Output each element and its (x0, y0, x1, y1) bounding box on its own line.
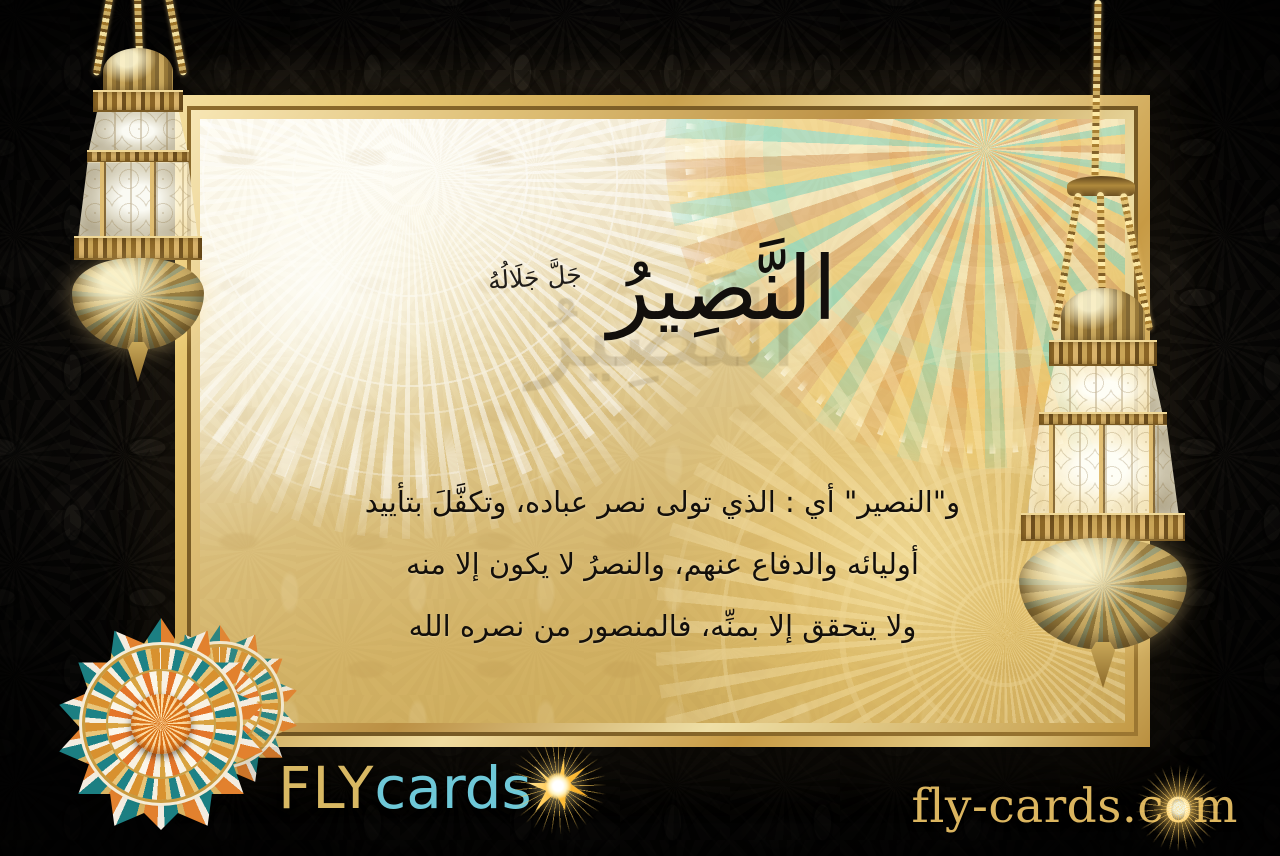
card-frame-inner-rim: النَّصِيرُ النَّصِيرُ جَلَّ جَلَالُهُ و"… (191, 110, 1134, 732)
url-o-char: o (1164, 779, 1193, 834)
mandala-medallion-front-icon (55, 618, 267, 830)
flycards-logo[interactable]: FLY cards (278, 738, 606, 838)
logo-fly-text: FLY (278, 754, 374, 822)
card-face: النَّصِيرُ النَّصِيرُ جَلَّ جَلَالُهُ و"… (200, 119, 1125, 723)
url-text-end: m (1193, 779, 1238, 834)
website-url[interactable]: fly-cards.c o m (911, 779, 1238, 834)
card-frame-inner-shadow: النَّصِيرُ النَّصِيرُ جَلَّ جَلَالُهُ و"… (187, 106, 1138, 736)
logo-cards-text: cards (374, 754, 531, 822)
url-letter-o: o (1164, 779, 1193, 834)
url-text-start: fly-cards.c (911, 779, 1164, 834)
greeting-card-stage: النَّصِيرُ النَّصِيرُ جَلَّ جَلَالُهُ و"… (0, 0, 1280, 856)
body-line: ولا يتحقق إلا بمنِّه، فالمنصور من نصره ا… (350, 595, 975, 657)
logo-starburst-icon (510, 738, 606, 834)
card-gold-frame: النَّصِيرُ النَّصِيرُ جَلَّ جَلَالُهُ و"… (175, 95, 1150, 747)
body-line: و"النصير" أي : الذي تولى نصر عباده، وتكف… (350, 471, 975, 533)
card-body-text: و"النصير" أي : الذي تولى نصر عباده، وتكف… (350, 471, 975, 657)
body-line: أوليائه والدفاع عنهم، والنصرُ لا يكون إل… (350, 533, 975, 595)
